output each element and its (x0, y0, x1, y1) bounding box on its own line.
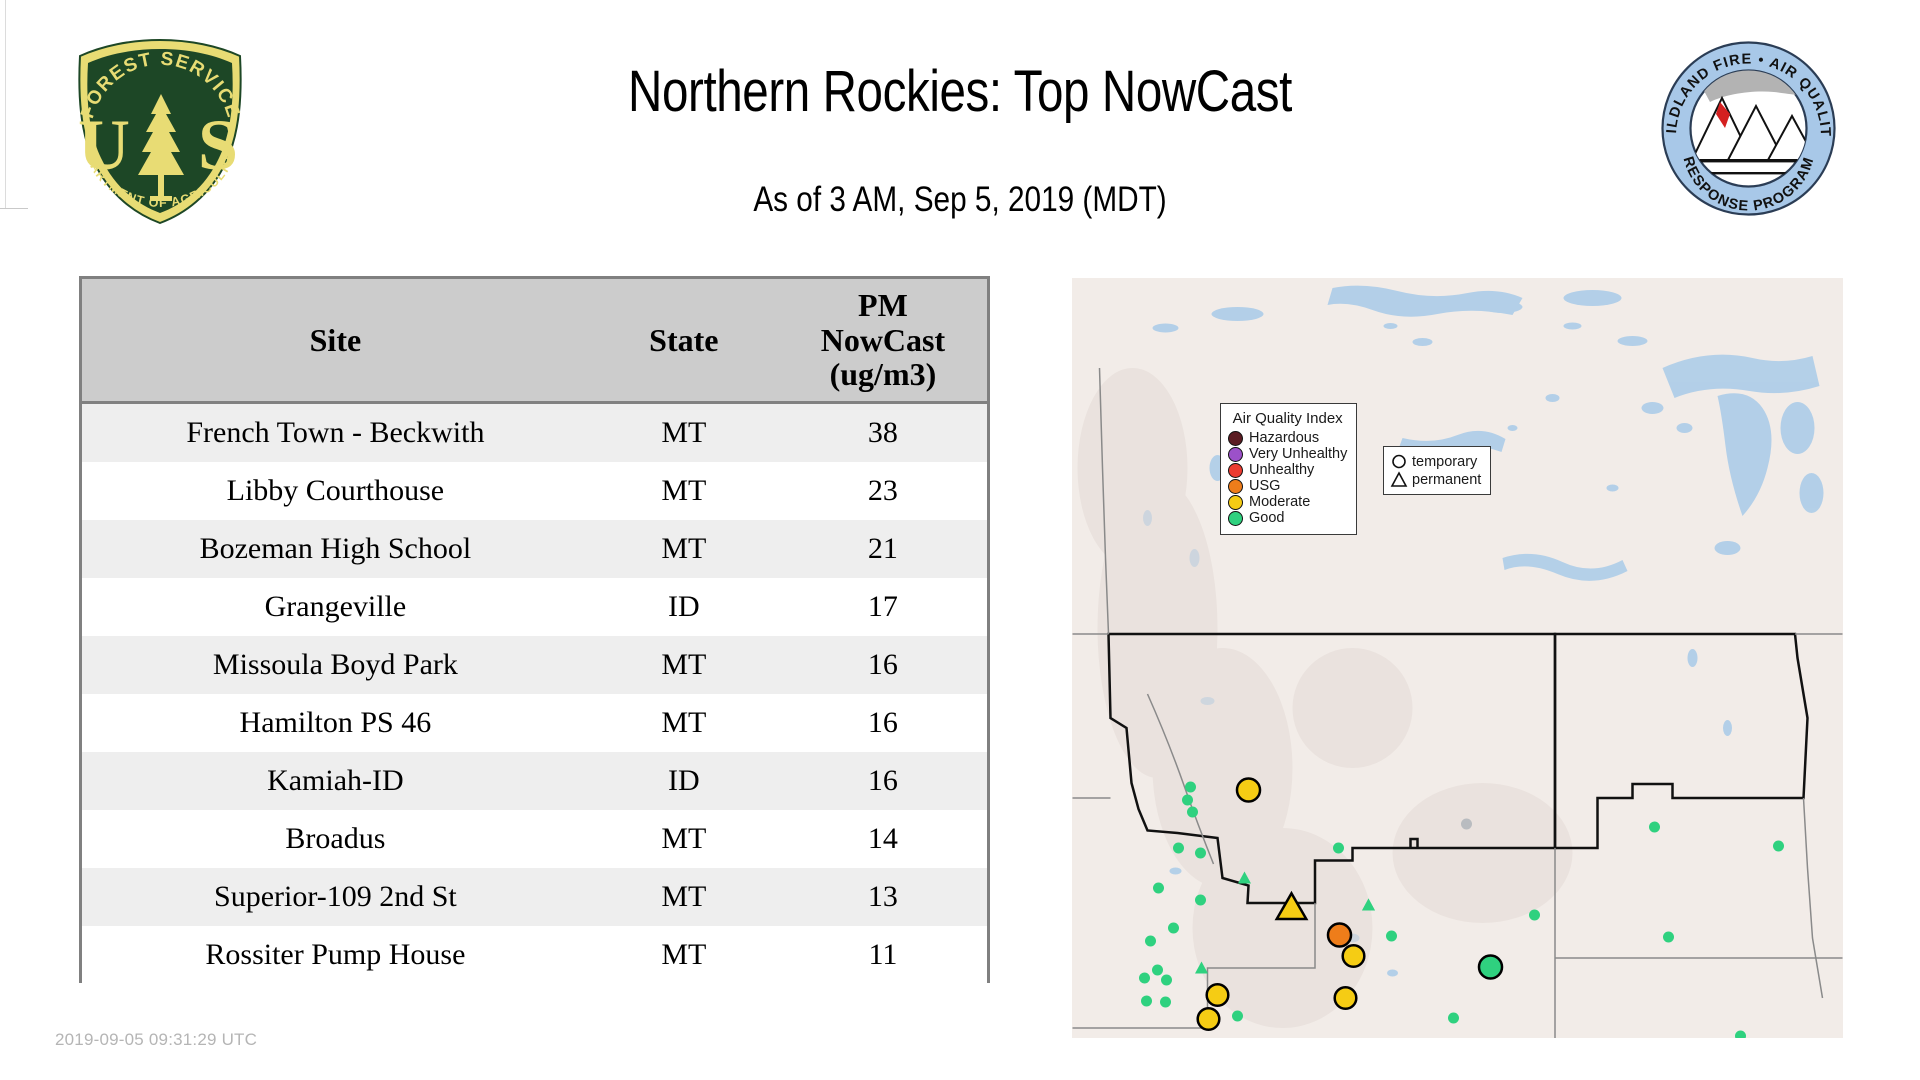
aqi-legend-row: Unhealthy (1228, 463, 1347, 478)
aqi-legend-label: USG (1249, 479, 1280, 494)
table-cell-pm: 38 (779, 403, 987, 463)
aqi-legend-row: Very Unhealthy (1228, 447, 1347, 462)
table-cell-state: MT (589, 403, 779, 463)
table-cell-site: Libby Courthouse (82, 462, 589, 520)
wildland-fire-air-quality-logo: WILDLAND FIRE • AIR QUALITY RESPONSE PRO… (1656, 36, 1841, 221)
map-canvas (1072, 278, 1843, 1038)
legend-label-permanent: permanent (1412, 472, 1481, 488)
monitor-marker-good (1529, 910, 1540, 921)
table-row: BroadusMT14 (82, 810, 987, 868)
table-row: GrangevilleID17 (82, 578, 987, 636)
aqi-legend: Air Quality Index HazardousVery Unhealth… (1220, 403, 1357, 535)
monitor-marker-good (1145, 936, 1156, 947)
page-title: Northern Rockies: Top NowCast (419, 58, 1501, 125)
monitor-marker-good (1195, 848, 1206, 859)
table-row: Bozeman High SchoolMT21 (82, 520, 987, 578)
table-cell-site: Hamilton PS 46 (82, 694, 589, 752)
aqi-legend-label: Good (1249, 511, 1284, 526)
monitor-marker-good (1152, 965, 1163, 976)
table-cell-site: French Town - Beckwith (82, 403, 589, 463)
monitor-marker-good (1141, 996, 1152, 1007)
table-cell-pm: 16 (779, 636, 987, 694)
aqi-swatch-icon (1228, 431, 1243, 446)
aqi-swatch-icon (1228, 511, 1243, 526)
column-header-pm-line3: (ug/m3) (779, 357, 987, 392)
legend-row-temporary: temporary (1390, 453, 1481, 470)
aqi-legend-row: USG (1228, 479, 1347, 494)
column-header-pm-nowcast: PM NowCast (ug/m3) (779, 279, 987, 403)
table-cell-pm: 17 (779, 578, 987, 636)
highlighted-monitor-marker[interactable] (1237, 778, 1260, 801)
aqi-legend-row: Hazardous (1228, 431, 1347, 446)
table-header-row: Site State PM NowCast (ug/m3) (82, 279, 987, 403)
table-cell-state: MT (589, 520, 779, 578)
monitor-marker-good (1168, 923, 1179, 934)
monitor-marker-good (1773, 841, 1784, 852)
aqi-legend-label: Very Unhealthy (1249, 447, 1347, 462)
table-row: Rossiter Pump HouseMT11 (82, 926, 987, 984)
highlighted-monitor-marker[interactable] (1207, 984, 1229, 1006)
monitor-marker-no-data (1461, 819, 1472, 830)
table-cell-pm: 21 (779, 520, 987, 578)
usfs-letter-s: S (198, 105, 238, 185)
page-subtitle: As of 3 AM, Sep 5, 2019 (MDT) (399, 180, 1521, 220)
legend-row-permanent: permanent (1390, 471, 1481, 488)
table-cell-state: MT (589, 694, 779, 752)
table-cell-state: MT (589, 462, 779, 520)
monitor-marker-good (1185, 782, 1196, 793)
table-cell-site: Kamiah-ID (82, 752, 589, 810)
table-cell-pm: 13 (779, 868, 987, 926)
monitor-marker-good (1448, 1013, 1459, 1024)
monitor-marker-good (1649, 822, 1660, 833)
table-cell-pm: 23 (779, 462, 987, 520)
table-cell-pm: 16 (779, 752, 987, 810)
table-cell-pm: 11 (779, 926, 987, 984)
generation-timestamp: 2019-09-05 09:31:29 UTC (55, 1030, 257, 1050)
table-row: French Town - BeckwithMT38 (82, 403, 987, 463)
table-cell-site: Bozeman High School (82, 520, 589, 578)
column-header-state: State (589, 279, 779, 403)
circle-icon (1390, 453, 1408, 470)
monitor-marker-good (1232, 1011, 1243, 1022)
table-cell-pm: 14 (779, 810, 987, 868)
highlighted-monitor-marker[interactable] (1343, 945, 1365, 967)
table-row: Kamiah-IDID16 (82, 752, 987, 810)
legend-label-temporary: temporary (1412, 454, 1477, 470)
highlighted-monitor-marker[interactable] (1479, 955, 1502, 978)
table-cell-site: Grangeville (82, 578, 589, 636)
monitor-marker-good (1195, 895, 1206, 906)
monitor-marker-good (1187, 807, 1198, 818)
monitor-marker-good (1173, 843, 1184, 854)
table-cell-state: ID (589, 752, 779, 810)
highlighted-monitor-marker[interactable] (1335, 987, 1357, 1009)
air-quality-monitor-map[interactable]: Air Quality Index HazardousVery Unhealth… (1072, 278, 1843, 1038)
monitor-marker-good (1333, 843, 1344, 854)
table-cell-site: Rossiter Pump House (82, 926, 589, 984)
usfs-letter-u: U (78, 105, 130, 185)
aqi-legend-title: Air Quality Index (1228, 411, 1347, 426)
top-nowcast-table: Site State PM NowCast (ug/m3) French Tow… (79, 276, 990, 983)
table-cell-state: MT (589, 868, 779, 926)
table-row: Hamilton PS 46MT16 (82, 694, 987, 752)
column-header-pm-line2: NowCast (779, 323, 987, 358)
table-cell-state: ID (589, 578, 779, 636)
monitor-marker-good (1386, 931, 1397, 942)
table-cell-site: Broadus (82, 810, 589, 868)
table-cell-pm: 16 (779, 694, 987, 752)
table-cell-site: Superior-109 2nd St (82, 868, 589, 926)
page-header: FOREST SERVICE DEPARTMENT OF AGRICULTURE… (0, 0, 1920, 270)
aqi-legend-label: Hazardous (1249, 431, 1319, 446)
table-row: Libby CourthouseMT23 (82, 462, 987, 520)
table-cell-state: MT (589, 636, 779, 694)
highlighted-monitor-marker[interactable] (1328, 923, 1351, 946)
monitor-marker-good (1663, 932, 1674, 943)
table-cell-site: Missoula Boyd Park (82, 636, 589, 694)
triangle-icon (1390, 471, 1408, 488)
aqi-legend-row: Good (1228, 511, 1347, 526)
aqi-swatch-icon (1228, 495, 1243, 510)
table-cell-state: MT (589, 926, 779, 984)
table-cell-state: MT (589, 810, 779, 868)
aqi-swatch-icon (1228, 463, 1243, 478)
table-row: Superior-109 2nd StMT13 (82, 868, 987, 926)
aqi-swatch-icon (1228, 447, 1243, 462)
monitor-marker-good (1160, 997, 1171, 1008)
aqi-legend-label: Moderate (1249, 495, 1310, 510)
monitor-marker-good (1161, 975, 1172, 986)
monitor-marker-good (1153, 883, 1164, 894)
us-forest-service-shield-logo: FOREST SERVICE DEPARTMENT OF AGRICULTURE… (58, 36, 263, 226)
column-header-site: Site (82, 279, 589, 403)
aqi-swatch-icon (1228, 479, 1243, 494)
monitor-marker-good (1182, 795, 1193, 806)
monitor-type-legend: temporary permanent (1383, 446, 1491, 495)
table-row: Missoula Boyd ParkMT16 (82, 636, 987, 694)
monitor-marker-good (1139, 973, 1150, 984)
aqi-legend-label: Unhealthy (1249, 463, 1314, 478)
column-header-pm-line1: PM (779, 288, 987, 323)
aqi-legend-row: Moderate (1228, 495, 1347, 510)
highlighted-monitor-marker[interactable] (1198, 1008, 1220, 1030)
